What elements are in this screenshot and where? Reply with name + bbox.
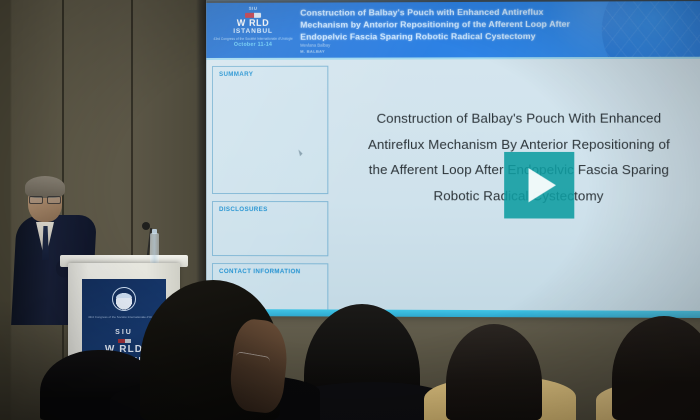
presentation-photo: SIU W RLD ISTANBUL 43rd Congress of the … — [0, 0, 700, 420]
slide-sidebar: SUMMARY DISCLOSURES CONTACT INFORMATION — [212, 66, 328, 318]
siu-logo-org: SIU — [212, 7, 294, 12]
siu-emblem-icon — [112, 287, 136, 311]
speaker-glasses-icon — [29, 196, 61, 202]
contact-box-label: CONTACT INFORMATION — [219, 268, 301, 275]
slide-header-title: Construction of Balbay's Pouch with Enha… — [300, 6, 585, 44]
turkish-flag-icon — [245, 12, 261, 17]
speaker-hair — [25, 176, 65, 198]
slide-body: SUMMARY DISCLOSURES CONTACT INFORMATION … — [206, 59, 700, 318]
siu-logo-dates: October 11-14 — [212, 43, 294, 48]
title-line-1: Construction of Balbay's Pouch With Enha… — [342, 105, 695, 131]
video-play-button[interactable] — [504, 152, 574, 219]
disclosures-box-label: DISCLOSURES — [219, 206, 268, 213]
summary-box-label: SUMMARY — [219, 71, 253, 78]
siu-logo-congress: 43rd Congress of the Société Internation… — [212, 37, 294, 42]
summary-box[interactable]: SUMMARY — [212, 66, 328, 194]
disclosures-box[interactable]: DISCLOSURES — [212, 201, 328, 256]
play-triangle-icon — [528, 168, 555, 202]
podium-flag-icon — [118, 339, 131, 343]
siu-logo-city: ISTANBUL — [212, 28, 294, 35]
water-bottle — [150, 233, 159, 263]
slide-header-band: SIU W RLD ISTANBUL 43rd Congress of the … — [206, 1, 700, 58]
microphone-icon — [142, 222, 150, 230]
projection-screen: SIU W RLD ISTANBUL 43rd Congress of the … — [206, 0, 700, 318]
mouse-cursor-icon — [298, 149, 303, 157]
siu-congress-logo: SIU W RLD ISTANBUL 43rd Congress of the … — [212, 5, 294, 57]
siu-logo-world: W RLD — [212, 18, 294, 27]
author-short-name: M. BALBAY — [300, 49, 330, 55]
slide-author-block: Mevlana Balbay M. BALBAY — [300, 43, 330, 55]
